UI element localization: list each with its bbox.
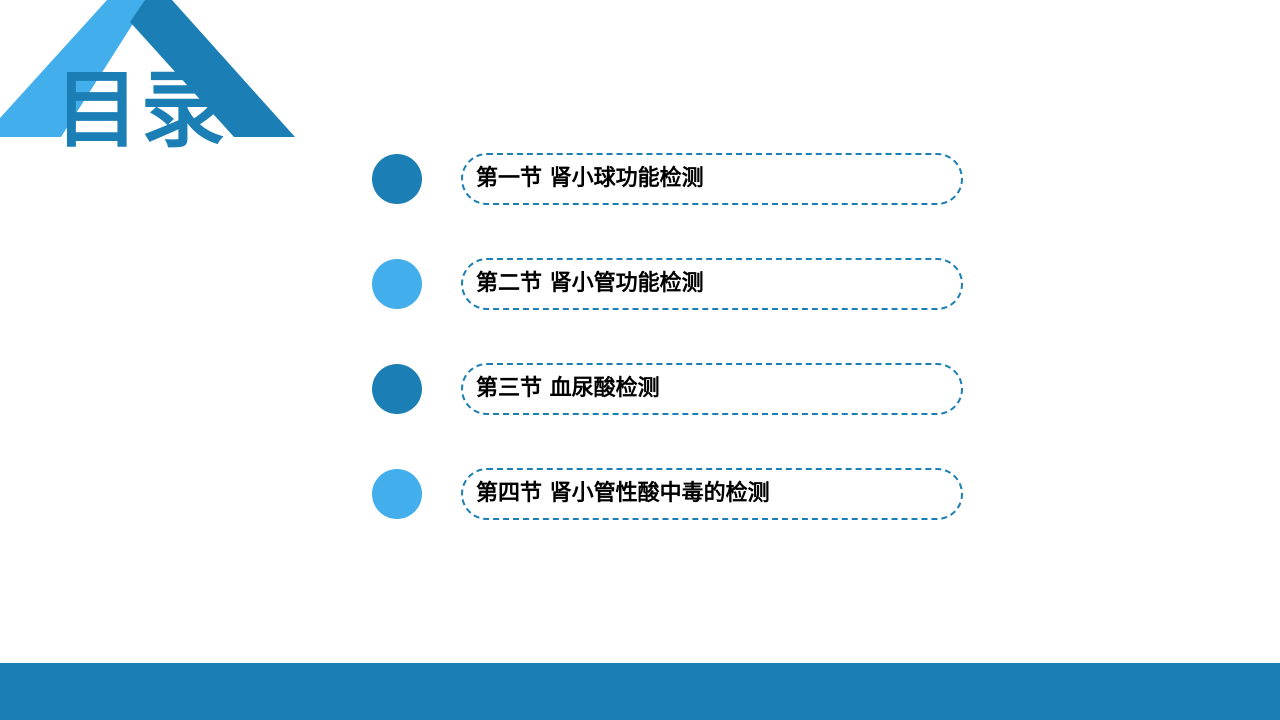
- toc-item-label: 第二节 肾小管功能检测: [476, 258, 704, 310]
- page-title: 目录: [55, 68, 227, 152]
- slide-canvas: 目录 第一节 肾小球功能检测 第二节 肾小管功能检测 第三节 血尿酸检测 第四节…: [0, 0, 1280, 720]
- filled-circle-icon: [372, 259, 422, 309]
- toc-item-label: 第一节 肾小球功能检测: [476, 153, 704, 205]
- table-of-contents-list: 第一节 肾小球功能检测 第二节 肾小管功能检测 第三节 血尿酸检测 第四节 肾小…: [372, 153, 972, 520]
- filled-circle-icon: [372, 469, 422, 519]
- filled-circle-icon: [372, 364, 422, 414]
- list-item[interactable]: 第二节 肾小管功能检测: [372, 258, 972, 310]
- toc-item-label: 第四节 肾小管性酸中毒的检测: [476, 468, 770, 520]
- list-item[interactable]: 第四节 肾小管性酸中毒的检测: [372, 468, 972, 520]
- footer-bar: [0, 663, 1280, 720]
- list-item[interactable]: 第三节 血尿酸检测: [372, 363, 972, 415]
- toc-item-label: 第三节 血尿酸检测: [476, 363, 660, 415]
- list-item[interactable]: 第一节 肾小球功能检测: [372, 153, 972, 205]
- filled-circle-icon: [372, 154, 422, 204]
